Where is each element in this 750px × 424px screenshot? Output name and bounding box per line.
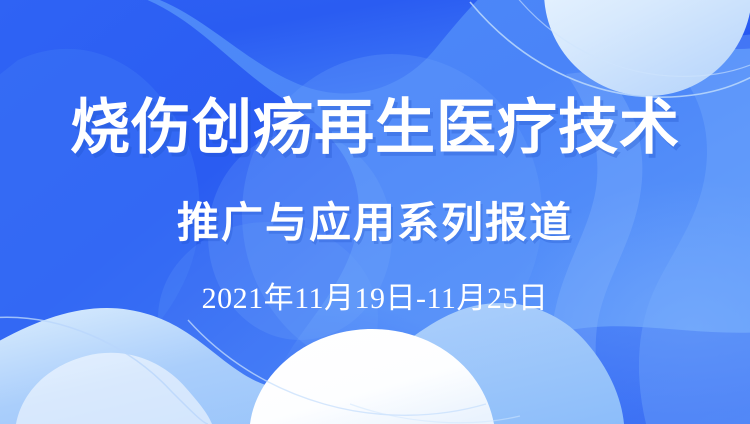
promo-banner: 烧伤创疡再生医疗技术 推广与应用系列报道 2021年11月19日-11月25日 <box>0 0 750 424</box>
text-layer: 烧伤创疡再生医疗技术 推广与应用系列报道 2021年11月19日-11月25日 <box>0 0 750 424</box>
page-subtitle: 推广与应用系列报道 <box>0 202 750 244</box>
page-title: 烧伤创疡再生医疗技术 <box>0 98 750 158</box>
date-range-label: 2021年11月19日-11月25日 <box>0 281 750 317</box>
